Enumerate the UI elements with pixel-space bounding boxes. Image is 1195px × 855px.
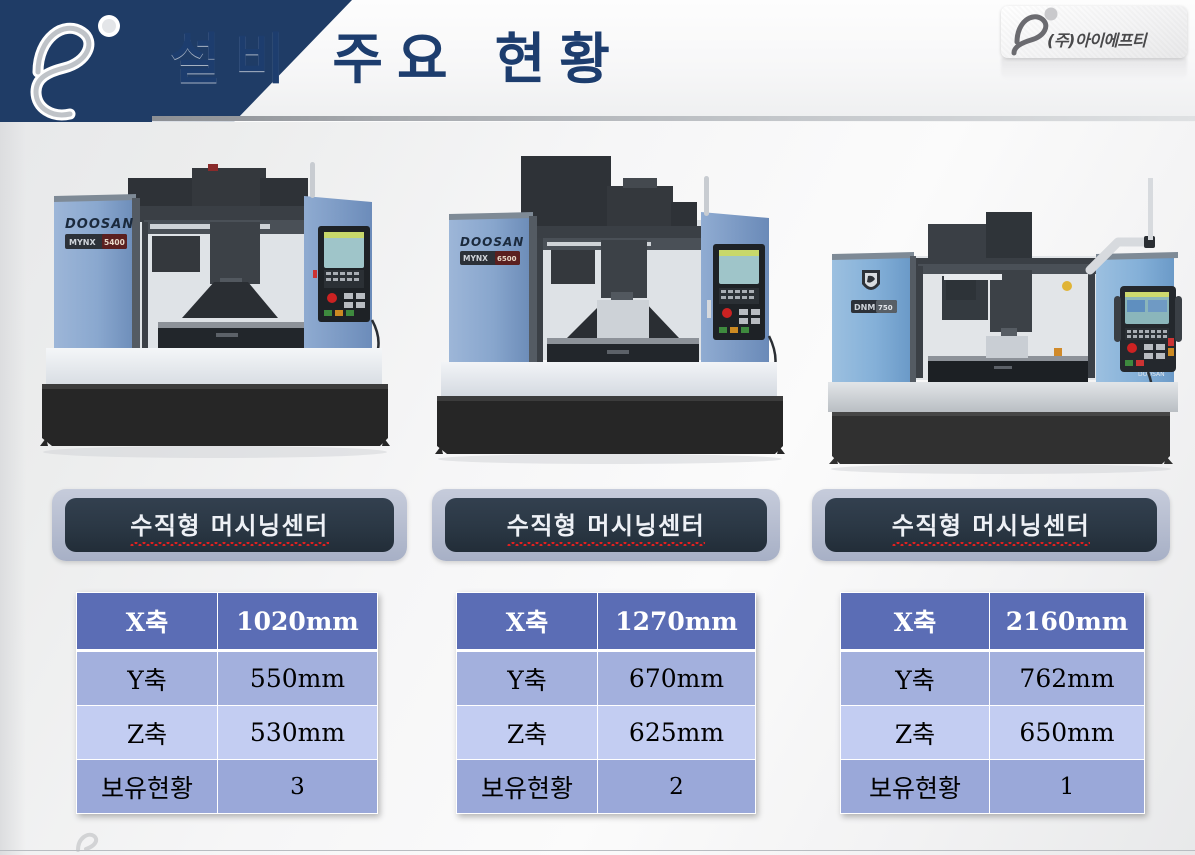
spec-label: X축 bbox=[457, 593, 598, 651]
spec-value: 530mm bbox=[218, 706, 378, 760]
svg-text:DOOSAN: DOOSAN bbox=[460, 235, 524, 249]
svg-text:DOOSAN: DOOSAN bbox=[65, 217, 134, 232]
table-row: Y축 670mm bbox=[457, 651, 756, 706]
table-row: Z축 625mm bbox=[457, 706, 756, 760]
table-row: X축 2160mm bbox=[841, 593, 1145, 651]
spec-value: 650mm bbox=[990, 706, 1145, 760]
table-row: X축 1270mm bbox=[457, 593, 756, 651]
spec-value: 762mm bbox=[990, 651, 1145, 706]
spec-value: 1020mm bbox=[218, 593, 378, 651]
spec-value: 2 bbox=[598, 760, 756, 814]
svg-text:5400: 5400 bbox=[104, 238, 125, 247]
machine-banner-2[interactable]: 수직형 머시닝센터 bbox=[432, 489, 780, 561]
company-logo-text: (주)아이에프티 bbox=[1047, 27, 1146, 51]
table-row: Z축 530mm bbox=[77, 706, 378, 760]
spec-table-1: X축 1020mm Y축 550mm Z축 530mm 보유현황 3 bbox=[76, 592, 378, 814]
spec-label: 보유현황 bbox=[841, 760, 990, 814]
table-row: X축 1020mm bbox=[77, 593, 378, 651]
spec-value: 2160mm bbox=[990, 593, 1145, 651]
company-logo-reflection bbox=[1001, 58, 1187, 80]
machine-banner-2-label: 수직형 머시닝센터 bbox=[507, 506, 706, 544]
table-row: Y축 550mm bbox=[77, 651, 378, 706]
svg-text:DOOSAN: DOOSAN bbox=[1138, 371, 1165, 378]
spec-label: X축 bbox=[77, 593, 218, 651]
machine-photo-3: DNM 750 DOOSAN bbox=[818, 168, 1188, 488]
footer-divider bbox=[0, 850, 1195, 851]
table-row: Z축 650mm bbox=[841, 706, 1145, 760]
svg-text:DNM: DNM bbox=[854, 303, 875, 312]
table-row: 보유현황 3 bbox=[77, 760, 378, 814]
machine-photo-row: DOOSAN MYNX 5400 bbox=[0, 150, 1195, 480]
machine-banner-3[interactable]: 수직형 머시닝센터 bbox=[812, 489, 1170, 561]
spec-label: Y축 bbox=[841, 651, 990, 706]
spec-label: Y축 bbox=[457, 651, 598, 706]
company-logo: (주)아이에프티 bbox=[1001, 6, 1187, 58]
spec-label: Y축 bbox=[77, 651, 218, 706]
header-divider-sheen bbox=[152, 121, 1195, 122]
machine-banner-1[interactable]: 수직형 머시닝센터 bbox=[52, 489, 407, 561]
slide-header: 설비 주요 현황 (주)아이에프티 bbox=[0, 0, 1195, 122]
table-row: Y축 762mm bbox=[841, 651, 1145, 706]
machine-banner-3-inner: 수직형 머시닝센터 bbox=[825, 498, 1157, 552]
slide-canvas: 설비 주요 현황 (주)아이에프티 bbox=[0, 0, 1195, 855]
spec-label: Z축 bbox=[457, 706, 598, 760]
svg-text:6500: 6500 bbox=[497, 255, 517, 263]
machine-banner-1-label: 수직형 머시닝센터 bbox=[130, 506, 329, 544]
spec-label: 보유현황 bbox=[457, 760, 598, 814]
spec-table-2: X축 1270mm Y축 670mm Z축 625mm 보유현황 2 bbox=[456, 592, 756, 814]
spec-label: 보유현황 bbox=[77, 760, 218, 814]
spec-table-3: X축 2160mm Y축 762mm Z축 650mm 보유현황 1 bbox=[840, 592, 1145, 814]
svg-text:MYNX: MYNX bbox=[463, 254, 488, 263]
machine-photo-1: DOOSAN MYNX 5400 bbox=[32, 150, 402, 470]
spec-value: 550mm bbox=[218, 651, 378, 706]
spec-value: 625mm bbox=[598, 706, 756, 760]
spec-label: Z축 bbox=[77, 706, 218, 760]
table-row: 보유현황 2 bbox=[457, 760, 756, 814]
svg-text:750: 750 bbox=[878, 304, 893, 312]
machine-banner-3-label: 수직형 머시닝센터 bbox=[892, 506, 1091, 544]
svg-text:MYNX: MYNX bbox=[69, 238, 96, 247]
page-title: 설비 주요 현황 bbox=[170, 14, 624, 94]
machine-banner-2-inner: 수직형 머시닝센터 bbox=[445, 498, 767, 552]
machine-banner-1-inner: 수직형 머시닝센터 bbox=[65, 498, 394, 552]
table-row: 보유현황 1 bbox=[841, 760, 1145, 814]
spec-label: X축 bbox=[841, 593, 990, 651]
machine-photo-2: DOOSAN MYNX 6500 bbox=[425, 150, 795, 470]
spec-value: 3 bbox=[218, 760, 378, 814]
spec-value: 670mm bbox=[598, 651, 756, 706]
spec-value: 1 bbox=[990, 760, 1145, 814]
spec-value: 1270mm bbox=[598, 593, 756, 651]
spec-label: Z축 bbox=[841, 706, 990, 760]
